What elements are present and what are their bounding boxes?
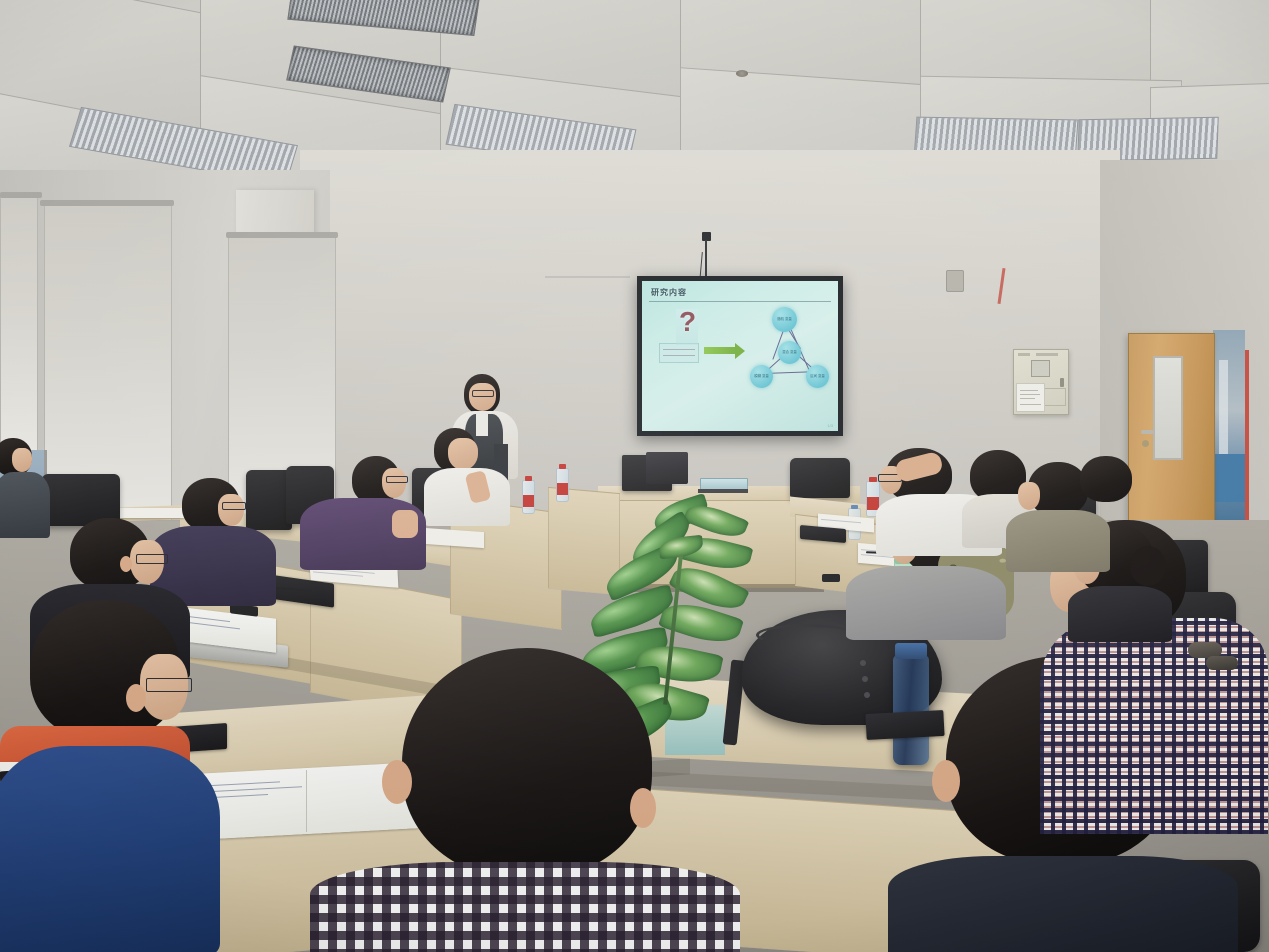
screen-mount-rod [705,240,707,278]
glasses-icon [472,390,494,397]
wall-speaker [946,270,964,292]
glasses-icon [136,554,168,564]
backpack-handle [756,624,858,646]
glasses-icon [146,678,192,692]
cabinet-inner-panel [1044,388,1066,406]
seminar-room-photo: 研究内容 ? 随机 变量 混合 变量 [0,0,1269,952]
cabinet-label [1018,353,1030,356]
node-label: 随机 变量 [777,317,792,321]
blind-rail [40,200,174,206]
water-bottle [556,468,569,502]
person-attendee-far-left [0,438,56,538]
cabinet-handle[interactable] [1060,378,1064,387]
person-attendee-blue-hoodie [0,600,220,952]
person-seated-white-shirt [424,428,516,524]
wall-electrical-cabinet [1013,349,1069,415]
blind-rail [226,232,338,238]
slide-left-textbox [659,343,699,363]
smoke-detector-icon [736,70,748,77]
wall-seam [545,276,630,278]
person-attendee-gingham [310,648,740,952]
door-glass-panel [1153,356,1183,460]
corridor-wall [1213,454,1245,502]
shoe [1206,656,1238,670]
green-arrow-icon [704,347,736,354]
slide-title: 研究内容 [651,287,687,298]
projected-slide: 研究内容 ? 随机 变量 混合 变量 [642,281,838,431]
roller-blind-left[interactable] [0,196,38,460]
blind-rail [0,192,42,198]
diagram-node-center: 混合 变量 [778,341,801,364]
diagram-node-top: 随机 变量 [772,307,797,332]
ponytail [1130,546,1166,586]
slide-title-rule [649,301,831,302]
cabinet-window [1031,360,1050,377]
posted-notice [1016,383,1045,412]
node-label: 混合 变量 [782,350,797,354]
av-control-panel-base [698,489,748,493]
mobile-phone[interactable] [822,574,840,582]
corridor-window [1219,360,1228,460]
glasses-icon [222,502,246,510]
wooden-door[interactable] [1128,333,1215,525]
node-label: 模糊 变量 [754,374,769,378]
person-attendee-right-back [1080,456,1138,514]
empty-office-chair[interactable] [790,458,850,498]
diagram-node-left: 模糊 变量 [750,365,773,388]
glasses-icon [386,476,408,483]
desktop-monitor [646,452,688,484]
cabinet-label [1036,353,1058,356]
question-mark-graphic: ? [676,309,698,345]
water-bottle [522,480,535,514]
door-handle[interactable] [1141,430,1154,434]
slide-page-number: 1/3 [827,423,833,428]
projection-screen-frame: 研究内容 ? 随机 变量 混合 变量 [637,276,843,436]
door-lock-icon[interactable] [1142,440,1149,447]
node-label: 区间 变量 [810,374,825,378]
person-attendee-purple [300,456,430,566]
question-mark-glyph: ? [679,308,696,336]
doorway-opening [1213,330,1245,530]
diagram-node-right: 区间 变量 [806,365,829,388]
